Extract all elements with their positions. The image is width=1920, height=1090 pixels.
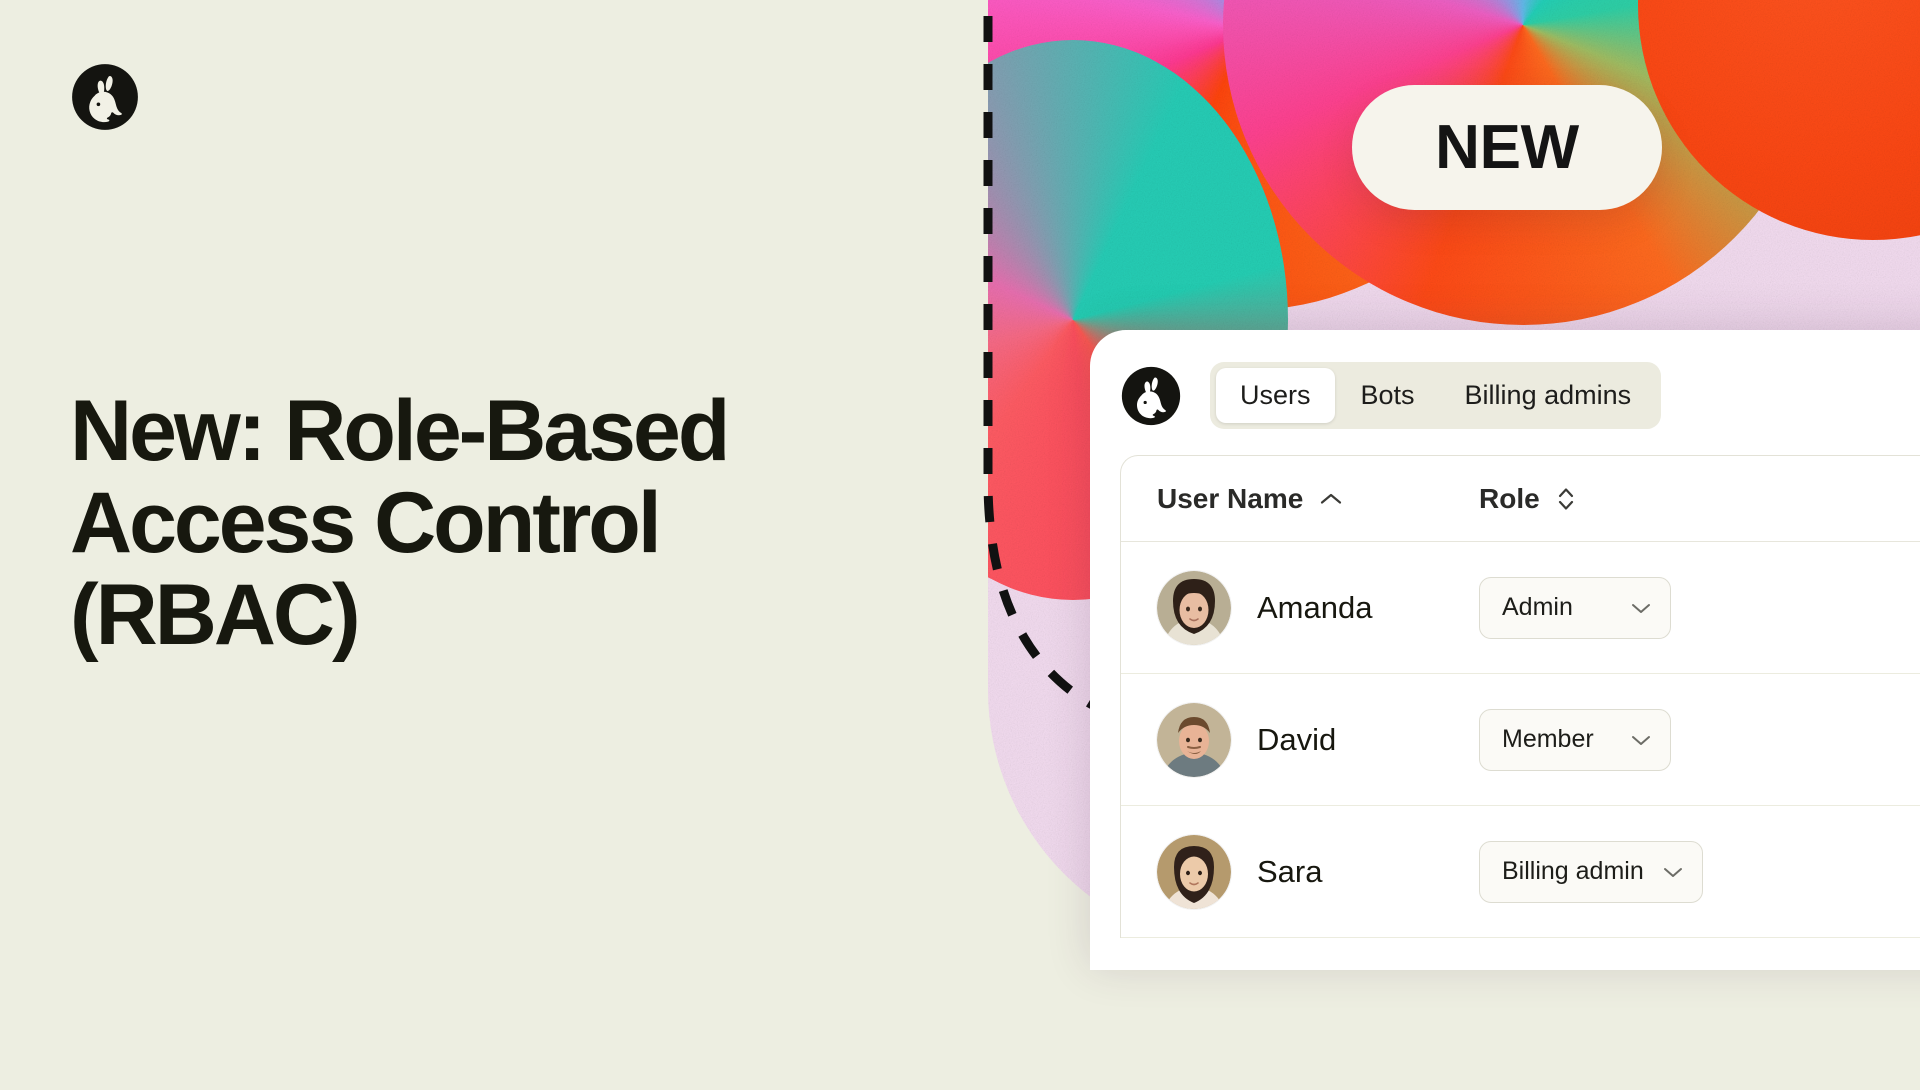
table-row: Sara Billing admin — [1121, 806, 1920, 938]
tab-users[interactable]: Users — [1216, 368, 1335, 423]
users-table: User Name Role — [1120, 455, 1920, 938]
table-header-row: User Name Role — [1121, 456, 1920, 542]
cell-user-name: Amanda — [1157, 571, 1479, 645]
chevron-down-icon[interactable] — [1662, 865, 1684, 879]
role-value: Member — [1502, 725, 1594, 754]
role-value: Billing admin — [1502, 857, 1644, 886]
column-header-user-name[interactable]: User Name — [1157, 483, 1479, 515]
column-header-role[interactable]: Role — [1479, 483, 1576, 515]
chevron-up-down-icon[interactable] — [1556, 485, 1576, 513]
avatar-sara — [1157, 835, 1231, 909]
tab-bar[interactable]: Users Bots Billing admins — [1210, 362, 1661, 429]
table-row: Amanda Admin — [1121, 542, 1920, 674]
tab-bots[interactable]: Bots — [1337, 368, 1439, 423]
avatar-david — [1157, 703, 1231, 777]
user-name: Amanda — [1257, 590, 1372, 626]
user-name: David — [1257, 722, 1336, 758]
headline-line-3: (RBAC) — [70, 569, 890, 661]
rabbit-logo-icon — [70, 62, 140, 132]
tab-billing-admins[interactable]: Billing admins — [1441, 368, 1656, 423]
column-header-user-name-label: User Name — [1157, 483, 1303, 515]
user-name: Sara — [1257, 854, 1322, 890]
headline-line-2: Access Control — [70, 477, 890, 569]
promo-banner: New: Role-Based Access Control (RBAC) NE… — [0, 0, 1920, 1090]
role-dropdown[interactable]: Billing admin — [1479, 841, 1703, 903]
role-dropdown[interactable]: Admin — [1479, 577, 1671, 639]
cell-user-name: David — [1157, 703, 1479, 777]
app-window-card: Users Bots Billing admins User Name Role — [1090, 330, 1920, 970]
role-dropdown[interactable]: Member — [1479, 709, 1671, 771]
page-title: New: Role-Based Access Control (RBAC) — [70, 385, 890, 661]
headline-line-1: New: Role-Based — [70, 385, 890, 477]
avatar-amanda — [1157, 571, 1231, 645]
new-badge-label: NEW — [1435, 112, 1579, 183]
card-header: Users Bots Billing admins — [1090, 330, 1920, 429]
chevron-up-icon[interactable] — [1319, 491, 1343, 507]
chevron-down-icon[interactable] — [1630, 601, 1652, 615]
chevron-down-icon[interactable] — [1630, 733, 1652, 747]
cell-user-name: Sara — [1157, 835, 1479, 909]
role-value: Admin — [1502, 593, 1573, 622]
rabbit-logo-icon — [1120, 365, 1182, 427]
new-badge: NEW — [1352, 85, 1662, 210]
column-header-role-label: Role — [1479, 483, 1540, 515]
table-row: David Member — [1121, 674, 1920, 806]
